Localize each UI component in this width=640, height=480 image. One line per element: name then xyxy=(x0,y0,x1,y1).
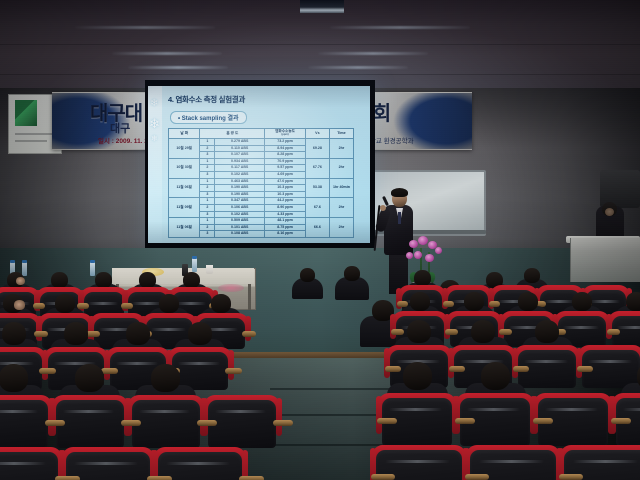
seat-gloss xyxy=(617,326,640,329)
person-head xyxy=(211,294,231,313)
auditorium-seat xyxy=(56,400,124,448)
seat-gloss xyxy=(479,460,544,463)
cell-absorbance: 0.347 ABS xyxy=(215,198,265,205)
bottle-cap xyxy=(22,260,27,263)
cell-sample-no: 1 xyxy=(200,139,215,146)
slide-bullet-box: • Stack sampling 결과 xyxy=(170,111,247,124)
seat-armrest xyxy=(239,476,264,480)
seat-armrest xyxy=(121,420,141,426)
projector-mount xyxy=(300,0,344,13)
seat-back xyxy=(0,452,58,480)
cell-absorbance: 0.509 ABS xyxy=(215,218,265,225)
cell-time: 2hr xyxy=(329,139,353,159)
seat-side-bolster xyxy=(245,316,251,341)
ceiling-lamp xyxy=(75,26,215,29)
person-head xyxy=(481,362,510,390)
auditorium-photo: 대구대 발표회 대구 발표회 일시 : 2009. 11. 20 대구대학교 환… xyxy=(0,0,640,480)
seat-gloss xyxy=(0,462,46,465)
cell-concentration: 73.2 ppm xyxy=(265,139,306,146)
cell-sample-no: 1 xyxy=(200,198,215,205)
person-face xyxy=(14,300,25,310)
person-head xyxy=(344,266,360,281)
seat-armrest xyxy=(611,418,631,424)
snowflake-icon: ❄ xyxy=(149,116,160,132)
seat-armrest xyxy=(147,476,172,480)
person-head xyxy=(95,272,112,288)
orchid-bloom xyxy=(409,240,418,248)
auditorium-seat xyxy=(208,400,276,448)
seat-armrest xyxy=(559,474,583,480)
seat-gloss xyxy=(132,302,162,305)
person-head xyxy=(75,364,104,392)
cell-absorbance: 0.102 ABS xyxy=(215,171,265,178)
projection-screen: ❄ ❄ ❄ 4. 염화수소 측정 실험결과 • Stack sampling 결… xyxy=(145,80,375,250)
cell-sample-no: 3 xyxy=(200,211,215,218)
cell-vs: 67.6 xyxy=(305,198,329,218)
ceiling xyxy=(0,0,640,92)
auditorium-seat xyxy=(0,452,58,480)
seat-gloss xyxy=(590,300,620,303)
cell-concentration: 10.3 ppm xyxy=(265,191,306,198)
seat-side-bolster xyxy=(228,350,234,380)
podium xyxy=(570,238,640,282)
cell-concentration: 8.90 ppm xyxy=(265,204,306,211)
cell-absorbance: 0.279 ABS xyxy=(215,139,265,146)
cell-absorbance: 0.102 ABS xyxy=(215,211,265,218)
person-head xyxy=(51,272,68,288)
seat-gloss xyxy=(88,302,118,305)
seat-gloss xyxy=(0,410,38,413)
person-head xyxy=(2,322,26,345)
seat-armrest xyxy=(34,331,48,337)
cell-absorbance: 0.106 ABS xyxy=(215,204,265,211)
cell-absorbance: 0.190 ABS xyxy=(215,191,265,198)
cell-concentration: 4.69 ppm xyxy=(265,171,306,178)
person-head xyxy=(407,320,431,343)
cell-concentration: 48.1 ppm xyxy=(265,218,306,225)
seat-gloss xyxy=(524,360,568,363)
cell-date: 10월 29일 xyxy=(169,139,200,159)
person-head xyxy=(572,292,592,311)
person-head xyxy=(139,272,156,288)
seat-armrest xyxy=(445,329,458,335)
seat-gloss xyxy=(467,408,520,411)
cell-sample-no: 1 xyxy=(200,178,215,185)
seat-armrest xyxy=(33,303,45,309)
cell-concentration: 47.0 ppm xyxy=(265,178,306,185)
cell-vs: 67.76 xyxy=(305,158,329,178)
seat-gloss xyxy=(178,362,221,365)
cell-time: 2hr xyxy=(329,158,353,178)
pink-mat xyxy=(218,284,244,292)
seat-armrest xyxy=(499,329,512,335)
seat-armrest xyxy=(39,368,56,374)
person-head xyxy=(300,268,315,282)
person-head xyxy=(403,362,432,390)
seat-back xyxy=(56,400,124,448)
cell-concentration: 8.94 ppm xyxy=(265,145,306,152)
auditorium-seat xyxy=(132,400,200,448)
poster-text-line xyxy=(15,140,47,142)
cell-sample-no: 2 xyxy=(200,185,215,192)
person-head xyxy=(0,364,28,392)
seated-person-face xyxy=(605,208,614,216)
seat-armrest xyxy=(371,474,395,480)
seat-back xyxy=(208,400,276,448)
person-head xyxy=(524,268,540,283)
cell-time: 2hr xyxy=(329,218,353,238)
ceiling-lamp xyxy=(330,26,470,29)
cell-absorbance: 0.463 ABS xyxy=(215,178,265,185)
person-head xyxy=(55,294,75,313)
ceiling-lamp xyxy=(112,52,222,55)
seat-armrest xyxy=(513,366,529,372)
cell-concentration: 8.75 ppm xyxy=(265,224,306,231)
seat-armrest xyxy=(449,366,465,372)
person-head xyxy=(64,322,88,345)
seat-armrest xyxy=(55,476,80,480)
seat-armrest xyxy=(77,303,89,309)
seat-gloss xyxy=(139,410,191,413)
table-body: 10월 29일10.279 ABS73.2 ppm69.282hr20.110 … xyxy=(169,139,354,238)
cell-absorbance: 0.117 ABS xyxy=(215,165,265,172)
snowflake-icon: ❄ xyxy=(150,98,158,109)
person-head xyxy=(464,292,484,311)
cell-sample-no: 3 xyxy=(200,231,215,238)
person-head xyxy=(518,292,538,311)
cell-sample-no: 1 xyxy=(200,158,215,165)
paper-cup xyxy=(206,265,213,274)
seat-armrest xyxy=(273,420,293,426)
cell-time: 1hr 40min xyxy=(329,178,353,198)
water-bottle xyxy=(90,262,95,276)
seat-gloss xyxy=(544,300,574,303)
cell-absorbance: 0.190 ABS xyxy=(215,185,265,192)
ceiling-seam xyxy=(0,44,640,45)
cell-sample-no: 3 xyxy=(200,191,215,198)
person-head xyxy=(159,294,179,313)
seat-armrest xyxy=(533,418,553,424)
bottle-cap xyxy=(90,260,95,263)
slide-left-band xyxy=(148,86,162,243)
seat-gloss xyxy=(623,408,640,411)
seat-armrest xyxy=(607,329,620,335)
th-concentration: 염화수소농도 (ppm) xyxy=(265,129,306,139)
presenter-tie xyxy=(398,212,401,224)
seat-back xyxy=(0,400,48,448)
cell-sample-no: 3 xyxy=(200,152,215,159)
cell-absorbance: 0.934 ABS xyxy=(215,158,265,165)
seat-armrest xyxy=(377,418,397,424)
snowflake-icon: ❄ xyxy=(151,134,158,143)
seat-gloss xyxy=(176,302,206,305)
seat-gloss xyxy=(74,462,138,465)
water-bottle xyxy=(192,258,197,272)
seat-gloss xyxy=(215,410,267,413)
seat-armrest xyxy=(443,301,454,307)
seat-side-bolster xyxy=(276,398,282,436)
seat-armrest xyxy=(242,331,256,337)
orchid-bloom xyxy=(435,247,442,254)
th-conc-unit: (ppm) xyxy=(265,134,305,137)
results-table: 날 짜 흡 광 도 염화수소농도 (ppm) Vs Time 10월 29일10… xyxy=(168,128,354,238)
aisle-step xyxy=(270,388,390,390)
orchid-bloom xyxy=(406,252,413,259)
cell-sample-no: 1 xyxy=(200,218,215,225)
ceiling-light-tint xyxy=(0,0,640,92)
presenter-hair xyxy=(391,188,408,197)
seat-armrest xyxy=(45,420,65,426)
poster-logo-icon xyxy=(15,100,37,126)
cell-sample-no: 2 xyxy=(200,224,215,231)
seat-armrest xyxy=(197,420,217,426)
table-row: 11월 09일10.347 ABS44.2 ppm67.62hr xyxy=(169,198,354,205)
table-row: 11월 06일10.463 ABS47.0 ppm53.381hr 40min xyxy=(169,178,354,185)
seat-gloss xyxy=(563,326,599,329)
person-head xyxy=(626,292,640,311)
cell-concentration: 8.28 ppm xyxy=(265,152,306,159)
person-head xyxy=(126,322,150,345)
presenter-hand xyxy=(380,205,386,211)
orchid-bloom xyxy=(414,251,422,259)
cell-absorbance: 0.108 ABS xyxy=(215,231,265,238)
cell-date: 11월 09일 xyxy=(169,198,200,218)
cell-date: 11월 06일 xyxy=(169,178,200,198)
th-absorbance: 흡 광 도 xyxy=(200,129,265,139)
cell-vs: 53.38 xyxy=(305,178,329,198)
table-leg xyxy=(248,284,251,310)
cell-concentration: 70.9 ppm xyxy=(265,158,306,165)
th-time: Time xyxy=(329,129,353,139)
person-head xyxy=(188,322,212,345)
orchid-bloom xyxy=(425,254,434,262)
cell-concentration: 44.2 ppm xyxy=(265,198,306,205)
seat-armrest xyxy=(577,366,593,372)
table-header-row: 날 짜 흡 광 도 염화수소농도 (ppm) Vs Time xyxy=(169,129,354,139)
cell-sample-no: 2 xyxy=(200,165,215,172)
seat-armrest xyxy=(489,301,500,307)
cell-vs: 69.28 xyxy=(305,139,329,159)
table-row: 10월 29일10.279 ABS73.2 ppm69.282hr xyxy=(169,139,354,146)
cell-concentration: 4.33 ppm xyxy=(265,211,306,218)
seat-gloss xyxy=(573,460,638,463)
seat-gloss xyxy=(63,410,115,413)
water-bottle xyxy=(22,262,27,276)
seat-armrest xyxy=(391,329,404,335)
cell-sample-no: 3 xyxy=(200,171,215,178)
slide-title: 4. 염화수소 측정 실험결과 xyxy=(168,94,245,105)
seat-armrest xyxy=(225,368,242,374)
seat-gloss xyxy=(389,408,442,411)
ceiling-seam xyxy=(0,74,640,75)
cell-concentration: 9.57 ppm xyxy=(265,165,306,172)
orchid-bloom xyxy=(418,236,428,245)
person-head xyxy=(535,320,559,343)
seat-armrest xyxy=(121,303,133,309)
cell-concentration: 8.16 ppm xyxy=(265,231,306,238)
th-date: 날 짜 xyxy=(169,129,200,139)
person-head xyxy=(414,270,431,286)
cell-absorbance: 0.101 ABS xyxy=(215,224,265,231)
cell-time: 2hr xyxy=(329,198,353,218)
seat-gloss xyxy=(545,408,598,411)
seat-armrest xyxy=(465,474,489,480)
ceiling-lamp xyxy=(128,66,228,69)
cell-absorbance: 0.107 ABS xyxy=(215,152,265,159)
person-head xyxy=(183,272,200,288)
bottle-cap xyxy=(192,256,197,259)
cell-vs: 66.6 xyxy=(305,218,329,238)
seat-armrest xyxy=(385,366,401,372)
auditorium-seat xyxy=(0,400,48,448)
bottle-cap xyxy=(10,260,15,263)
table-row: 10월 30일10.934 ABS70.9 ppm67.762hr xyxy=(169,158,354,165)
ceiling-lamp xyxy=(318,52,428,55)
seat-back xyxy=(132,400,200,448)
poster-text-line xyxy=(15,133,53,135)
seat-gloss xyxy=(385,460,450,463)
seat-gloss xyxy=(166,462,230,465)
person-head xyxy=(410,292,430,311)
seat-armrest xyxy=(86,331,100,337)
cell-sample-no: 2 xyxy=(200,204,215,211)
seat-gloss xyxy=(588,360,632,363)
cell-date: 10월 30일 xyxy=(169,158,200,178)
slide-bullet-text: • Stack sampling 결과 xyxy=(178,113,239,122)
th-vs: Vs xyxy=(305,129,329,139)
presentation-slide: ❄ ❄ ❄ 4. 염화수소 측정 실험결과 • Stack sampling 결… xyxy=(148,86,370,243)
cell-date: 11월 06일 xyxy=(169,218,200,238)
cell-sample-no: 2 xyxy=(200,145,215,152)
seat-armrest xyxy=(455,418,475,424)
ceiling-lamp xyxy=(308,66,408,69)
seat-gloss xyxy=(151,328,187,331)
cell-concentration: 10.3 ppm xyxy=(265,185,306,192)
table-row: 11월 06일10.509 ABS48.1 ppm66.62hr xyxy=(169,218,354,225)
seat-gloss xyxy=(116,362,159,365)
cell-absorbance: 0.110 ABS xyxy=(215,145,265,152)
person-head xyxy=(471,320,495,343)
person-head xyxy=(151,364,180,392)
